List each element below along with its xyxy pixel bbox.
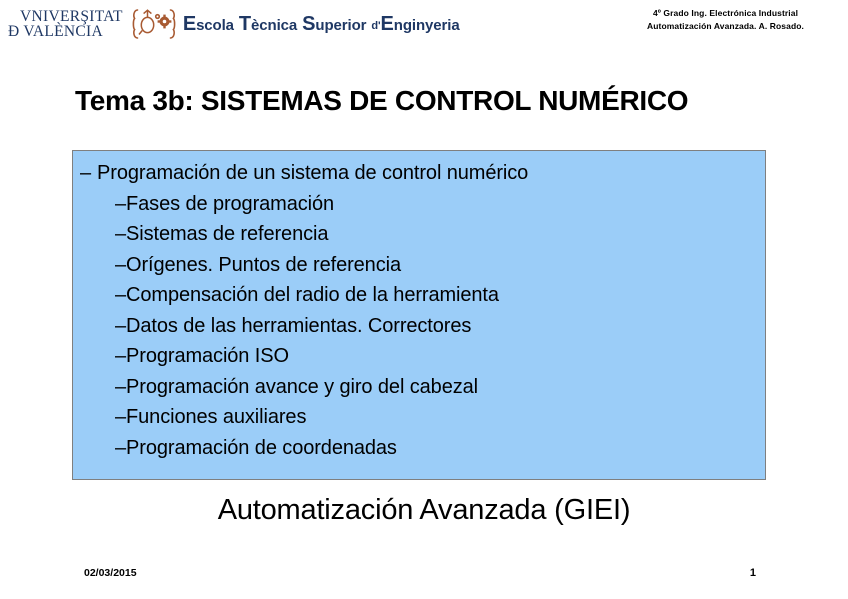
school-name-part1-rest: scola (196, 17, 234, 34)
list-item-dash: – (115, 254, 126, 276)
course-info: 4º Grado Ing. Electrónica Industrial Aut… (647, 7, 804, 33)
school-name-part5-cap: E (381, 13, 394, 36)
list-item: –Compensación del radio de la herramient… (73, 280, 765, 311)
school-name-part2-rest: ècnica (251, 17, 297, 34)
university-wordmark-line1: Vniverşitat (8, 9, 123, 24)
school-name-part1-cap: E (183, 13, 196, 36)
list-item: –Programación de un sistema de control n… (73, 151, 765, 189)
university-wordmark-line2: Ɖ València (8, 24, 123, 39)
list-item-dash: – (115, 345, 126, 367)
school-name-part3-rest: uperior (315, 17, 366, 34)
list-item-label: Programación avance y giro del cabezal (126, 376, 478, 398)
list-item-label: Sistemas de referencia (126, 223, 328, 245)
school-name-part2-cap: T (239, 13, 251, 36)
list-item-dash: – (80, 162, 91, 184)
list-item: –Programación ISO (73, 341, 765, 372)
footer-date: 02/03/2015 (84, 567, 137, 579)
list-item-dash: – (115, 437, 126, 459)
list-item-label: Orígenes. Puntos de referencia (126, 254, 401, 276)
list-item-dash: – (115, 406, 126, 428)
school-name-part5-rest: nginyeria (394, 17, 460, 34)
bracketed-figure-gear-icon (129, 7, 179, 41)
list-item-dash: – (115, 315, 126, 337)
course-info-line2: Automatización Avanzada. A. Rosado. (647, 20, 804, 33)
university-logo: Vniverşitat Ɖ València (8, 4, 460, 44)
list-item-label: Compensación del radio de la herramienta (126, 284, 499, 306)
university-wordmark: Vniverşitat Ɖ València (8, 9, 123, 39)
outline-content-box: –Programación de un sistema de control n… (72, 150, 766, 480)
list-item-label: Programación de coordenadas (126, 437, 397, 459)
list-item-dash: – (115, 376, 126, 398)
footer-page-number: 1 (750, 567, 756, 579)
list-item-label: Datos de las herramientas. Correctores (126, 315, 471, 337)
list-item: –Programación avance y giro del cabezal (73, 372, 765, 403)
slide-header: Vniverşitat Ɖ València (0, 0, 848, 52)
list-item-dash: – (115, 284, 126, 306)
subject-subtitle: Automatización Avanzada (GIEI) (0, 494, 848, 527)
school-name-apostrophe: d' (371, 20, 380, 32)
list-item: –Funciones auxiliares (73, 402, 765, 433)
list-item: –Programación de coordenadas (73, 433, 765, 464)
school-name: Escola Tècnica Superior d'Enginyeria (183, 13, 460, 36)
list-item: –Sistemas de referencia (73, 219, 765, 250)
list-item: –Orígenes. Puntos de referencia (73, 250, 765, 281)
list-item-dash: – (115, 223, 126, 245)
list-item-label: Fases de programación (126, 193, 334, 215)
list-item: –Fases de programación (73, 189, 765, 220)
list-item-dash: – (115, 193, 126, 215)
outline-list: –Programación de un sistema de control n… (73, 151, 765, 463)
list-item-label: Programación de un sistema de control nu… (97, 162, 528, 184)
list-item-label: Programación ISO (126, 345, 289, 367)
list-item: –Datos de las herramientas. Correctores (73, 311, 765, 342)
course-info-line1: 4º Grado Ing. Electrónica Industrial (647, 7, 804, 20)
list-item-label: Funciones auxiliares (126, 406, 306, 428)
school-name-part3-cap: S (302, 13, 315, 36)
page-title: Tema 3b: SISTEMAS DE CONTROL NUMÉRICO (75, 85, 688, 117)
